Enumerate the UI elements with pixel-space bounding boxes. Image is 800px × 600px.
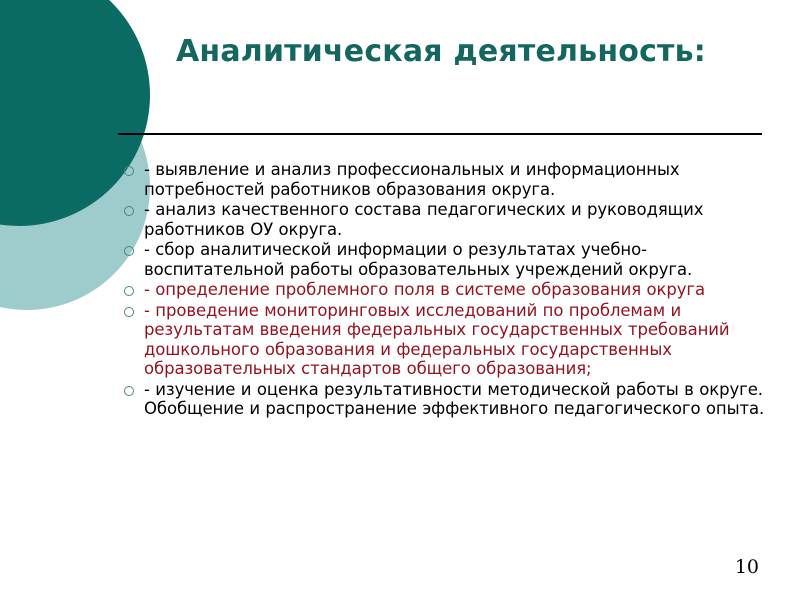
bullet-ring-icon — [118, 380, 144, 396]
bullet-ring-icon — [118, 200, 144, 216]
presentation-slide: Аналитическая деятельность: - выявление … — [0, 0, 800, 600]
list-item-text: - определение проблемного поля в системе… — [144, 280, 778, 300]
list-item: - изучение и оценка результативности мет… — [118, 380, 778, 419]
slide-title: Аналитическая деятельность: — [118, 34, 764, 69]
list-item: - определение проблемного поля в системе… — [118, 280, 778, 300]
list-item: - сбор аналитической информации о резуль… — [118, 240, 778, 279]
list-item-text: - выявление и анализ профессиональных и … — [144, 160, 778, 199]
page-number: 10 — [735, 556, 759, 578]
bullet-ring-icon — [118, 240, 144, 256]
bullet-ring-icon — [118, 160, 144, 176]
list-item: - выявление и анализ профессиональных и … — [118, 160, 778, 199]
bullet-ring-icon — [118, 301, 144, 317]
list-item-text: - изучение и оценка результативности мет… — [144, 380, 778, 419]
list-item-text: - анализ качественного состава педагогич… — [144, 200, 778, 239]
bullet-ring-icon — [118, 280, 144, 296]
list-item-text: - проведение мониторинговых исследований… — [144, 301, 778, 379]
title-divider — [118, 133, 762, 135]
bullet-list: - выявление и анализ профессиональных и … — [118, 160, 778, 420]
list-item: - проведение мониторинговых исследований… — [118, 301, 778, 379]
list-item-text: - сбор аналитической информации о резуль… — [144, 240, 778, 279]
list-item: - анализ качественного состава педагогич… — [118, 200, 778, 239]
